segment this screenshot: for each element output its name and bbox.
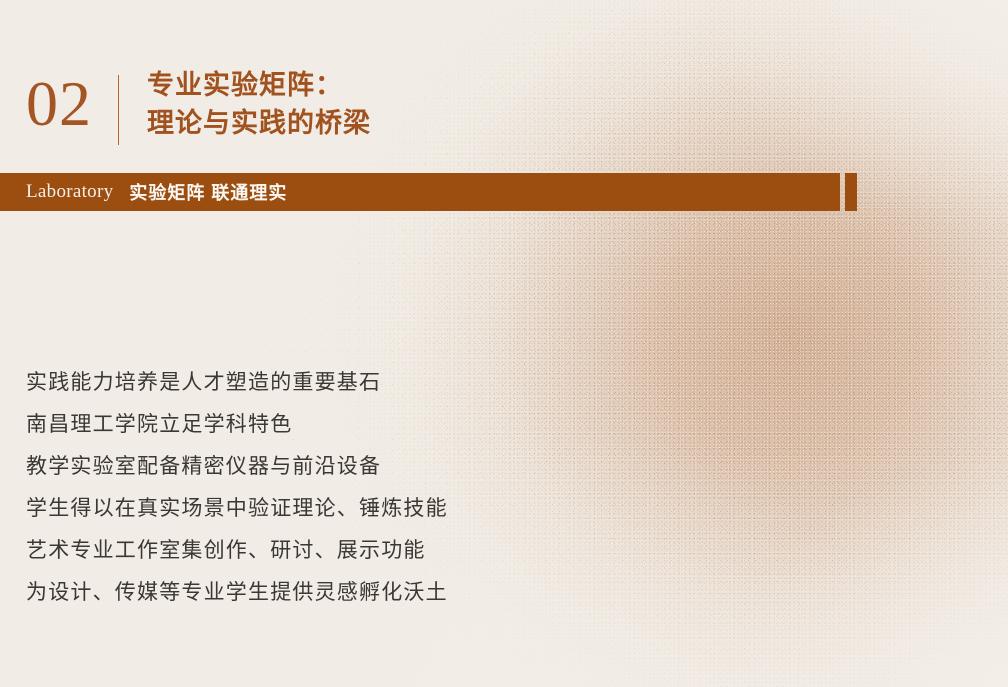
ribbon-english-label: Laboratory bbox=[26, 181, 113, 203]
page-title-line-1: 专业实验矩阵： bbox=[147, 66, 371, 104]
ribbon-chinese-label: 实验矩阵 联通理实 bbox=[129, 179, 287, 205]
ribbon-accent-tick bbox=[845, 173, 857, 211]
body-line: 艺术专业工作室集创作、研讨、展示功能 bbox=[26, 530, 666, 572]
header-divider-line bbox=[118, 75, 119, 145]
slide-canvas: 02 专业实验矩阵： 理论与实践的桥梁 Laboratory 实验矩阵 联通理实… bbox=[0, 0, 1008, 687]
page-title: 专业实验矩阵： 理论与实践的桥梁 bbox=[147, 58, 371, 142]
slide-header: 02 专业实验矩阵： 理论与实践的桥梁 bbox=[26, 58, 371, 145]
section-number: 02 bbox=[26, 58, 106, 136]
body-line: 实践能力培养是人才塑造的重要基石 bbox=[26, 362, 666, 404]
page-title-line-2: 理论与实践的桥梁 bbox=[147, 104, 371, 142]
body-line: 教学实验室配备精密仪器与前沿设备 bbox=[26, 446, 666, 488]
body-line: 为设计、传媒等专业学生提供灵感孵化沃土 bbox=[26, 572, 666, 614]
section-ribbon-bar: Laboratory 实验矩阵 联通理实 bbox=[0, 173, 840, 211]
body-line: 南昌理工学院立足学科特色 bbox=[26, 404, 666, 446]
body-line: 学生得以在真实场景中验证理论、锤炼技能 bbox=[26, 488, 666, 530]
body-text-list: 实践能力培养是人才塑造的重要基石 南昌理工学院立足学科特色 教学实验室配备精密仪… bbox=[26, 362, 666, 614]
